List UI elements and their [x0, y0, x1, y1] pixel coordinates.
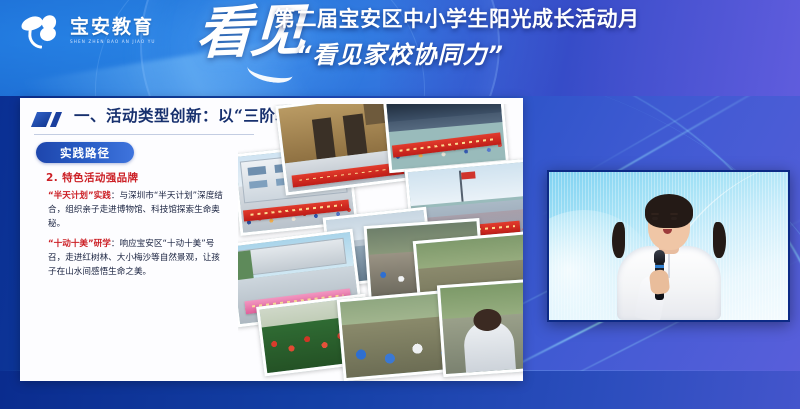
- presenter-eyebrow-right: [670, 213, 678, 215]
- event-header-banner: 宝安教育 SHEN ZHEN BAO AN JIAO YU 看见 第二届宝安区中…: [0, 0, 800, 96]
- slide-section-title: 2. 特色活动强品牌: [46, 170, 138, 185]
- slide-paragraph-1: “半天计划”实践：与深圳市“半天计划”深度结合，组织亲子走进博物馆、科技馆探索生…: [48, 190, 226, 232]
- logo-pinyin-name: SHEN ZHEN BAO AN JIAO YU: [70, 39, 156, 44]
- microphone-icon: [654, 250, 665, 264]
- presenter-eye-right: [671, 217, 677, 220]
- slide-heading-divider: [34, 134, 254, 135]
- collage-photo: [437, 279, 523, 377]
- broadcast-stage: 宝安教育 SHEN ZHEN BAO AN JIAO YU 看见 第二届宝安区中…: [0, 0, 800, 409]
- paragraph-2-highlight: “十动十美”研学: [48, 239, 111, 249]
- lotus-logo-icon: [20, 13, 64, 49]
- led-screen-background: [549, 172, 788, 320]
- presenter-eye-left: [652, 217, 658, 220]
- presenter-hair: [645, 194, 693, 228]
- presenter-hair-left: [612, 222, 625, 258]
- presenter-figure: [614, 208, 724, 320]
- baoan-education-logo: 宝安教育 SHEN ZHEN BAO AN JIAO YU: [20, 13, 156, 49]
- practice-path-badge: 实践路径: [36, 142, 134, 163]
- presenter-eyebrow-left: [651, 213, 659, 215]
- slide-paragraph-2: “十动十美”研学：响应宝安区“十动十美”号召，走进红树林、大小梅沙等自然景观，让…: [48, 238, 226, 280]
- event-title-block: 第二届宝安区中小学生阳光成长活动月 “看见家校协同力”: [274, 6, 784, 70]
- paragraph-1-highlight: “半天计划”实践: [48, 191, 111, 201]
- logo-text-block: 宝安教育 SHEN ZHEN BAO AN JIAO YU: [70, 18, 156, 45]
- activity-photo-collage: [238, 104, 523, 381]
- presenter-video-inset[interactable]: [547, 170, 790, 322]
- presentation-slide: 一、活动类型创新：以“三阶驱动”赋能教联体生态 实践路径 2. 特色活动强品牌 …: [20, 98, 523, 381]
- event-title-line1: 第二届宝安区中小学生阳光成长活动月: [274, 6, 784, 32]
- presenter-hand: [648, 269, 669, 295]
- slide-accent-mark-icon: [34, 112, 68, 127]
- presenter-hair-right: [713, 222, 726, 258]
- logo-chinese-name: 宝安教育: [70, 18, 156, 38]
- event-title-line2: “看见家校协同力”: [296, 35, 784, 70]
- microphone-ring-icon: [655, 265, 664, 268]
